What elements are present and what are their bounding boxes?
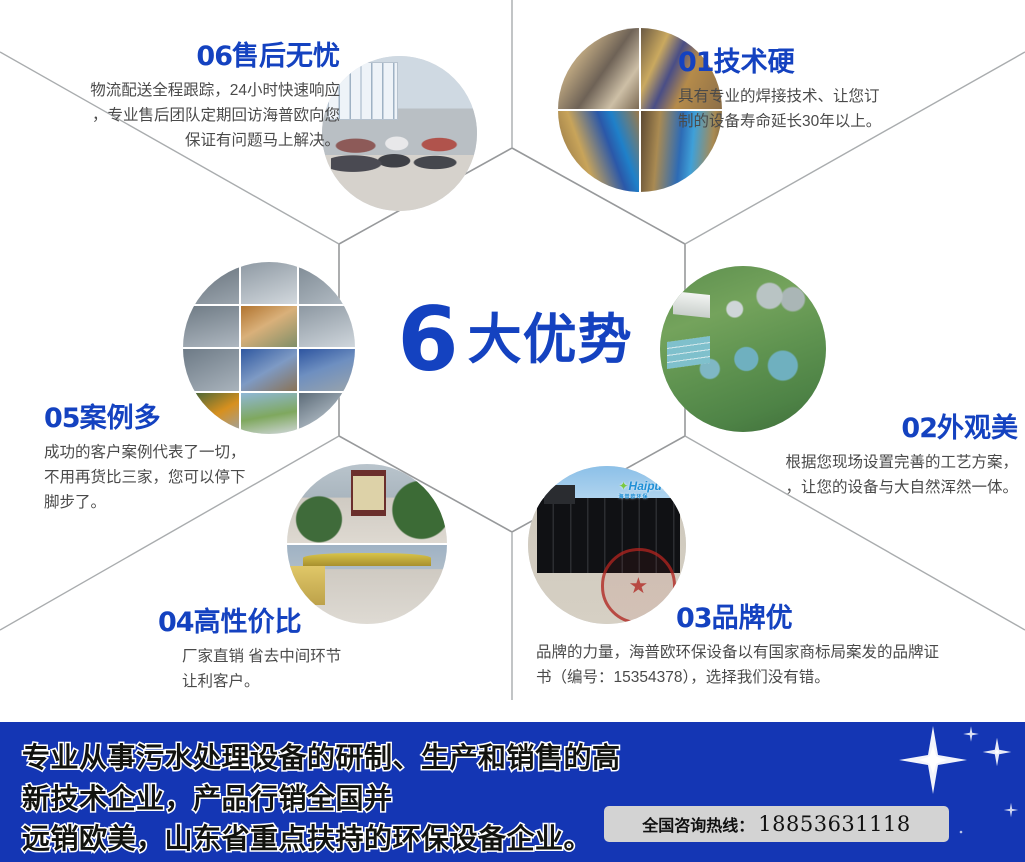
feature-photo-02 <box>660 266 826 432</box>
banner-line-2: 远销欧美，山东省重点扶持的环保设备企业。 <box>22 819 642 860</box>
center-label-text: 大优势 <box>468 313 633 367</box>
collage-cell <box>558 111 639 192</box>
feature-01: 01技术硬 具有专业的焊接技术、让您订 制的设备寿命延长30年以上。 <box>678 48 1018 134</box>
feature-03-number: 03 <box>676 603 712 634</box>
feature-06-desc-line: 物流配送全程跟踪，24小时快速响应 <box>10 78 340 103</box>
factory-gate-photo <box>287 464 447 624</box>
collage-cell <box>241 349 297 391</box>
feature-01-title-text: 技术硬 <box>714 47 795 77</box>
feature-04: 04高性价比 厂家直销 省去中间环节 让利客户。 <box>158 608 458 694</box>
collage-cell <box>299 262 355 304</box>
center-number: 6 <box>397 296 457 384</box>
feature-02-number: 02 <box>901 413 937 444</box>
banner-line-1: 专业从事污水处理设备的研制、生产和销售的高新技术企业，产品行销全国并 <box>22 742 621 814</box>
collage-cell <box>183 262 239 304</box>
feature-04-title-text: 高性价比 <box>194 607 302 637</box>
feature-02-title: 02外观美 <box>660 414 1018 444</box>
feature-02-title-text: 外观美 <box>937 413 1018 443</box>
feature-01-desc-line: 具有专业的焊接技术、让您订 <box>678 84 1018 109</box>
office-staff-photo <box>322 56 477 211</box>
feature-06-desc-line: ，专业售后团队定期回访海普欧向您 <box>10 103 340 128</box>
feature-03-desc: 品牌的力量，海普欧环保设备以有国家商标局案发的品牌证 书（编号：15354378… <box>536 640 1006 690</box>
feature-04-desc: 厂家直销 省去中间环节 让利客户。 <box>158 644 458 694</box>
feature-05-title-text: 案例多 <box>80 403 161 433</box>
feature-01-title: 01技术硬 <box>678 48 1018 78</box>
feature-04-desc-line: 厂家直销 省去中间环节 <box>182 644 458 669</box>
hotline-badge[interactable]: 全国咨询热线： 18853631118 <box>604 806 949 842</box>
leaf-icon: ✦ <box>618 479 628 493</box>
feature-03-desc-line: 品牌的力量，海普欧环保设备以有国家商标局案发的品牌证 <box>536 640 1006 665</box>
feature-03-title-text: 品牌优 <box>712 603 793 633</box>
feature-03-title: 03品牌优 <box>536 604 1006 634</box>
collage-cell <box>299 349 355 391</box>
feature-03-desc-line: 书（编号：15354378），选择我们没有错。 <box>536 665 1006 690</box>
feature-photo-06 <box>322 56 477 211</box>
feature-01-desc: 具有专业的焊接技术、让您订 制的设备寿命延长30年以上。 <box>678 84 1018 134</box>
feature-04-desc-line: 让利客户。 <box>182 669 458 694</box>
collage-cell <box>558 28 639 109</box>
feature-06: 06售后无忧 物流配送全程跟踪，24小时快速响应 ，专业售后团队定期回访海普欧向… <box>10 42 340 153</box>
feature-06-number: 06 <box>196 41 232 72</box>
star-icon: ★ <box>629 575 649 597</box>
feature-02: 02外观美 根据您现场设置完善的工艺方案， ，让您的设备与大自然浑然一体。 <box>660 414 1018 500</box>
collage-cell <box>299 306 355 348</box>
feature-02-desc: 根据您现场设置完善的工艺方案， ，让您的设备与大自然浑然一体。 <box>660 450 1018 500</box>
center-headline: 6 大优势 <box>375 285 655 395</box>
feature-photo-03: ✦Haipuou 海普欧环保 ★ <box>528 466 686 624</box>
banner-text: 专业从事污水处理设备的研制、生产和销售的高新技术企业，产品行销全国并 远销欧美，… <box>22 738 642 860</box>
collage-cell <box>241 262 297 304</box>
feature-02-desc-line: 根据您现场设置完善的工艺方案， <box>660 450 1018 475</box>
collage-cell <box>183 349 239 391</box>
watermark-brand: Haipuou <box>629 479 677 493</box>
collage-cell <box>183 306 239 348</box>
haipuou-watermark: ✦Haipuou 海普欧环保 <box>618 479 676 500</box>
feature-05-desc-line: 成功的客户案例代表了一切， <box>44 440 344 465</box>
feature-01-desc-line: 制的设备寿命延长30年以上。 <box>678 109 1018 134</box>
hotline-label: 全国咨询热线： <box>642 812 754 836</box>
feature-04-number: 04 <box>158 607 194 638</box>
feature-04-title: 04高性价比 <box>158 608 458 638</box>
feature-06-desc: 物流配送全程跟踪，24小时快速响应 ，专业售后团队定期回访海普欧向您 保证有问题… <box>10 78 340 153</box>
feature-03: 03品牌优 品牌的力量，海普欧环保设备以有国家商标局案发的品牌证 书（编号：15… <box>536 604 1006 690</box>
advantages-infographic: 6 大优势 06售后无忧 物流配送全程跟踪，24小时快速响应 ，专业售后团队定期… <box>0 0 1025 862</box>
feature-01-number: 01 <box>678 47 714 78</box>
collage-cell <box>287 464 447 543</box>
feature-05-number: 05 <box>44 403 80 434</box>
feature-05-title: 05案例多 <box>44 404 344 434</box>
feature-06-title: 06售后无忧 <box>10 42 340 72</box>
feature-photo-04 <box>287 464 447 624</box>
equipment-trademark-photo: ✦Haipuou 海普欧环保 ★ <box>528 466 686 624</box>
watermark-sub: 海普欧环保 <box>618 493 676 500</box>
feature-06-title-text: 售后无忧 <box>232 41 340 71</box>
feature-06-desc-line: 保证有问题马上解决。 <box>10 128 340 153</box>
feature-02-desc-line: ，让您的设备与大自然浑然一体。 <box>660 475 1018 500</box>
hotline-number: 18853631118 <box>758 812 910 836</box>
wastewater-plant-aerial-photo <box>660 266 826 432</box>
collage-cell <box>241 306 297 348</box>
